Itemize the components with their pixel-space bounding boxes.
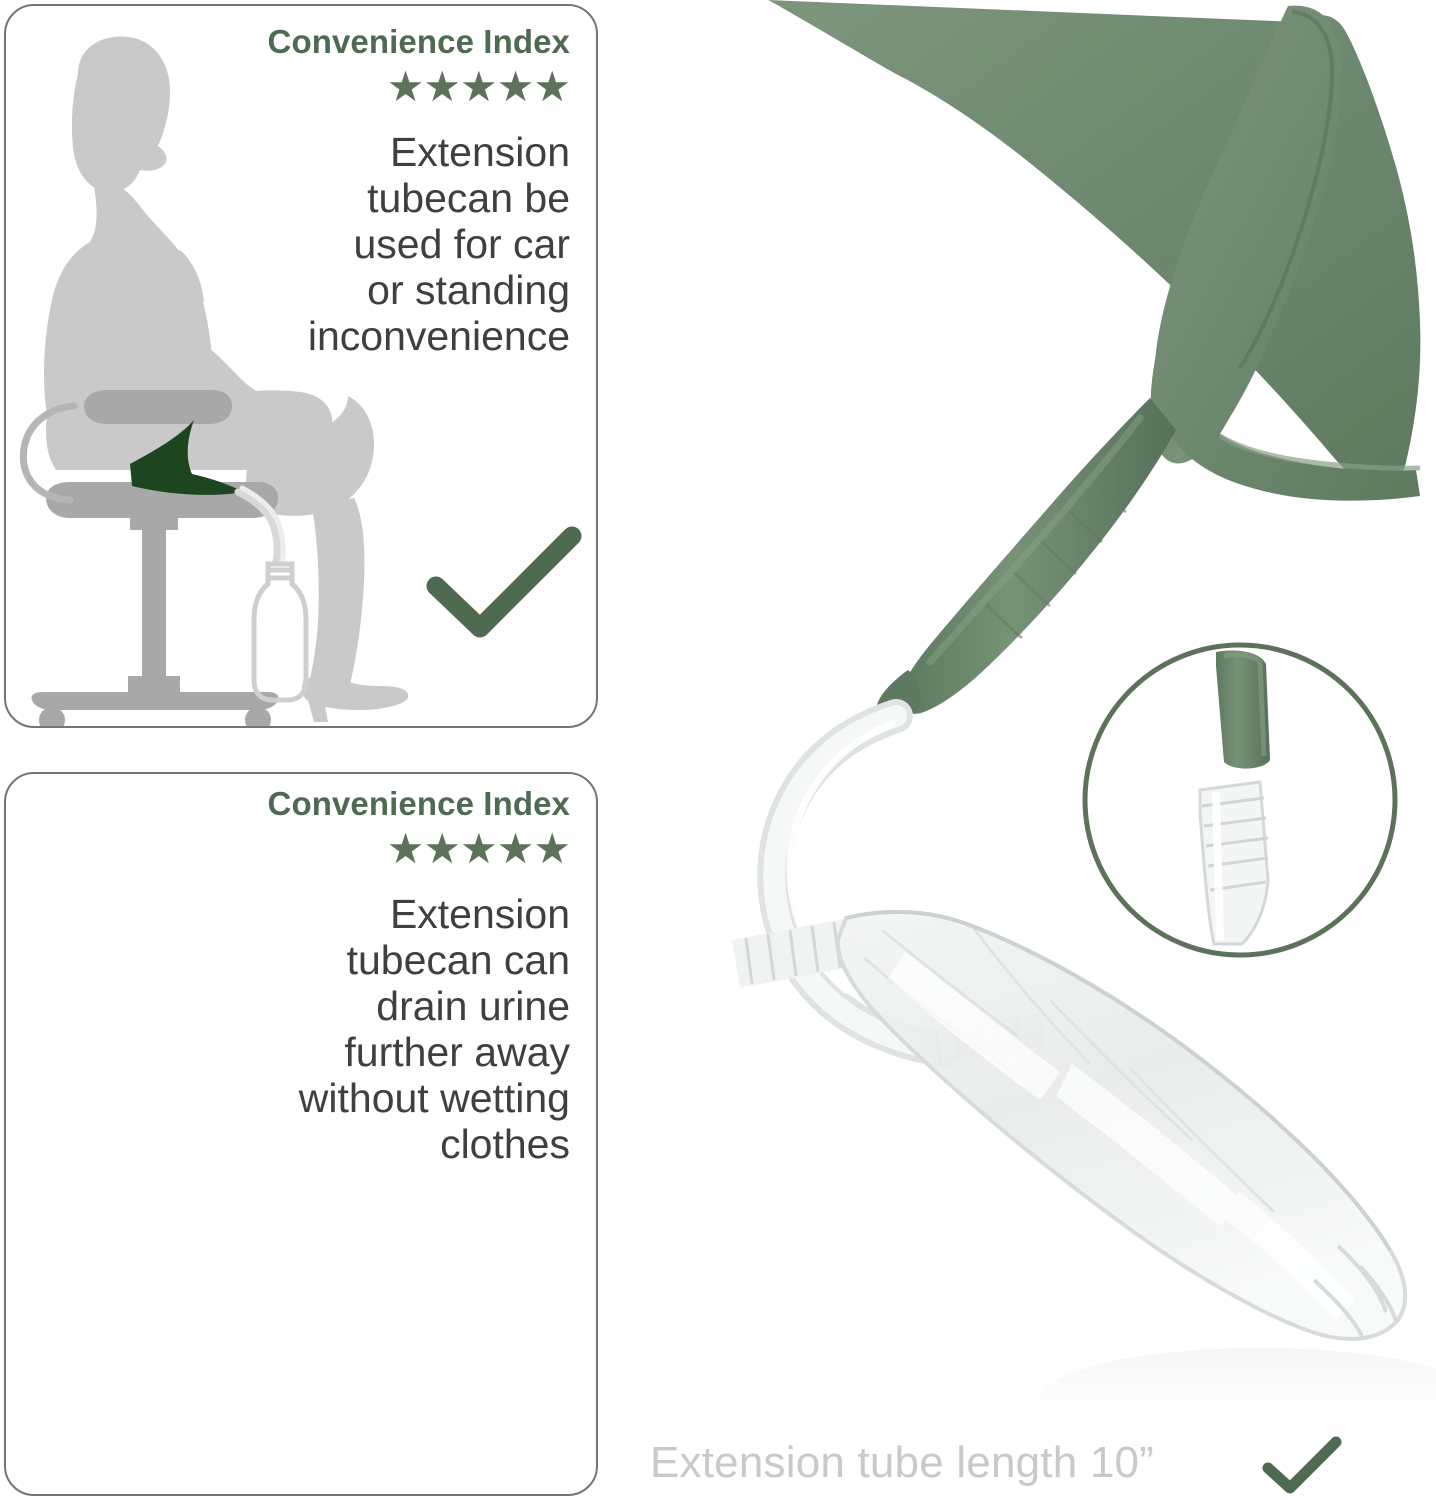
funnel-spout <box>876 398 1176 722</box>
star-rating: ★★★★★ <box>190 66 570 108</box>
convenience-index-heading: Convenience Index <box>190 786 570 822</box>
star-rating: ★★★★★ <box>190 828 570 870</box>
check-icon <box>414 514 594 644</box>
check-icon <box>1256 1432 1348 1498</box>
convenience-index-heading: Convenience Index <box>190 24 570 60</box>
card-2-text-block: Convenience Index ★★★★★ Extension tubeca… <box>190 786 570 1168</box>
extension-tube-length-caption: Extension tube length 10” <box>650 1438 1154 1488</box>
card-1-description: Extension tubecan be used for car or sta… <box>190 130 570 360</box>
benefit-card-sitting: Convenience Index ★★★★★ Extension tubeca… <box>4 4 598 728</box>
benefit-card-standing: Convenience Index ★★★★★ Extension tubeca… <box>4 772 598 1496</box>
product-infographic: Convenience Index ★★★★★ Extension tubeca… <box>0 0 1436 1500</box>
tube-connector-detail-circle <box>1085 645 1395 955</box>
card-2-description: Extension tubecan can drain urine furthe… <box>190 892 570 1167</box>
product-photo <box>620 0 1436 1500</box>
bottle-reflection <box>1040 1348 1436 1452</box>
card-1-text-block: Convenience Index ★★★★★ Extension tubeca… <box>190 24 570 360</box>
